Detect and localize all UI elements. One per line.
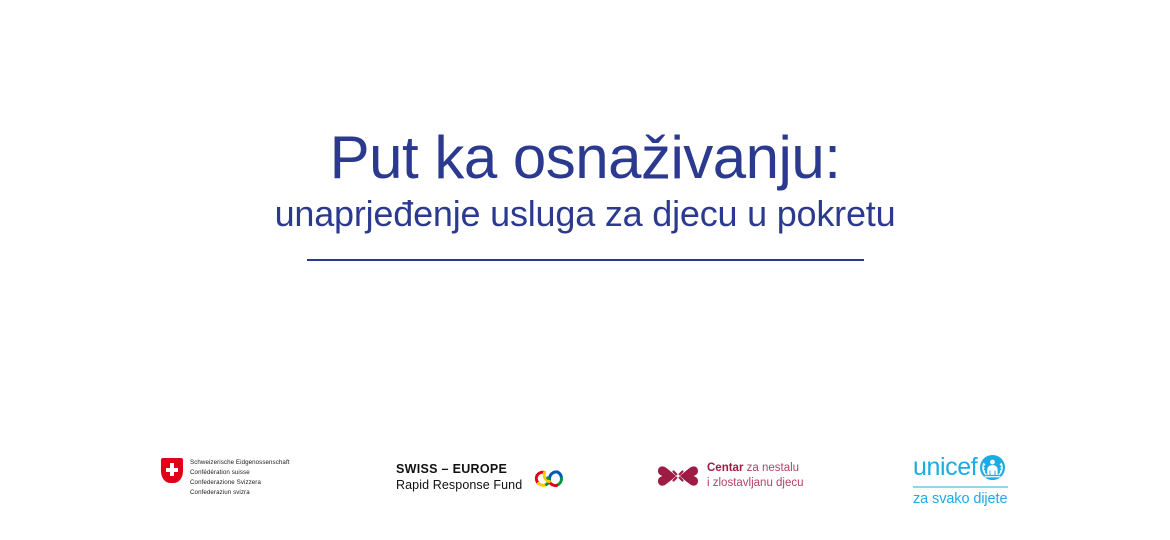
swiss-europe-line2: Rapid Response Fund — [396, 478, 522, 494]
unicef-wordmark: unicef — [913, 455, 977, 480]
swiss-shield-icon — [161, 458, 183, 483]
centar-wordmark: Centar za nestalu i zlostavljanu djecu — [707, 461, 804, 491]
unicef-lockup: unicef — [913, 454, 1008, 481]
page-subtitle: unaprjeđenje usluga za djecu u pokretu — [0, 193, 1170, 235]
page-title: Put ka osnaživanju: — [0, 126, 1170, 189]
swiss-name-fr: Confédération suisse — [190, 468, 290, 478]
partner-logo-band: Schweizerische Eidgenossenschaft Confédé… — [0, 452, 1170, 512]
logo-unicef: unicef — [913, 454, 1008, 507]
unicef-globe-icon — [979, 454, 1006, 481]
centar-line2: i zlostavljanu djecu — [707, 476, 804, 491]
centar-line1-rest: za nestalu — [743, 462, 799, 474]
logo-swiss-confederation: Schweizerische Eidgenossenschaft Confédé… — [161, 458, 290, 498]
title-slide: Put ka osnaživanju: unaprjeđenje usluga … — [0, 0, 1170, 540]
swiss-name-de: Schweizerische Eidgenossenschaft — [190, 458, 290, 468]
logo-centar-za-nestalu-djecu: Centar za nestalu i zlostavljanu djecu — [657, 461, 804, 491]
title-divider — [307, 259, 864, 261]
swiss-name-it: Confederazione Svizzera — [190, 478, 290, 488]
unicef-tagline: za svako dijete — [913, 492, 1008, 508]
centar-name: Centar — [707, 462, 743, 474]
swiss-europe-wordmark: SWISS – EUROPE Rapid Response Fund — [396, 462, 522, 493]
title-block: Put ka osnaživanju: unaprjeđenje usluga … — [0, 126, 1170, 261]
swiss-name-rm: Confederaziun svizra — [190, 488, 290, 498]
logo-swiss-europe-rapid-response-fund: SWISS – EUROPE Rapid Response Fund — [396, 462, 565, 493]
unicef-divider — [913, 486, 1008, 488]
double-heart-butterfly-icon — [657, 462, 699, 490]
interlocking-rings-icon — [531, 463, 565, 493]
swiss-confederation-names: Schweizerische Eidgenossenschaft Confédé… — [190, 458, 290, 498]
swiss-europe-line1: SWISS – EUROPE — [396, 462, 522, 478]
